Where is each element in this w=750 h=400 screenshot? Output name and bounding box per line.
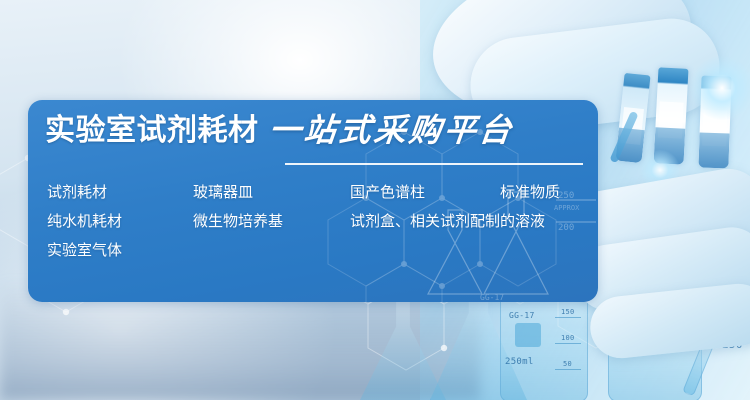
category-item-reagent-kits-solutions[interactable]: 试剂盒、相关试剂配制的溶液: [350, 207, 545, 236]
beaker-mark-50: 50: [563, 360, 572, 368]
title-bold-text: 实验室试剂耗材: [45, 116, 259, 146]
category-item-reagent-consumables[interactable]: 试剂耗材: [47, 178, 193, 207]
headline-panel: 250 APPROX 200 GG-17 实验室试剂耗材 一站式采购平台 试剂耗…: [28, 100, 598, 302]
category-row: 实验室气体: [47, 236, 592, 265]
title-calligraphy-text: 一站式采购平台: [267, 114, 515, 146]
category-list: 试剂耗材 玻璃器皿 国产色谱柱 标准物质 纯水机耗材 微生物培养基 试剂盒、相关…: [47, 178, 592, 265]
beaker-mark-150: 150: [561, 308, 575, 316]
category-row: 纯水机耗材 微生物培养基 试剂盒、相关试剂配制的溶液: [47, 207, 592, 236]
light-flare: [690, 56, 750, 120]
category-row: 试剂耗材 玻璃器皿 国产色谱柱 标准物质: [47, 178, 592, 207]
beaker-brand-gg17: GG-17: [509, 311, 535, 320]
category-item-domestic-column[interactable]: 国产色谱柱: [350, 178, 500, 207]
category-item-water-purifier-consumables[interactable]: 纯水机耗材: [47, 207, 193, 236]
beaker-volume-250ml: 250ml: [505, 357, 534, 367]
beaker-mark-100: 100: [561, 334, 575, 342]
category-item-microbial-media[interactable]: 微生物培养基: [193, 207, 350, 236]
title-underline: [285, 163, 583, 165]
category-item-standard-substance[interactable]: 标准物质: [500, 178, 560, 207]
headline-title: 实验室试剂耗材 一站式采购平台: [45, 114, 514, 146]
laboratory-reagent-banner: 250 APPROX 200 150 100 50 GG-17 250ml sl…: [0, 0, 750, 400]
category-item-glassware[interactable]: 玻璃器皿: [193, 178, 350, 207]
category-item-laboratory-gas[interactable]: 实验室气体: [47, 236, 193, 265]
